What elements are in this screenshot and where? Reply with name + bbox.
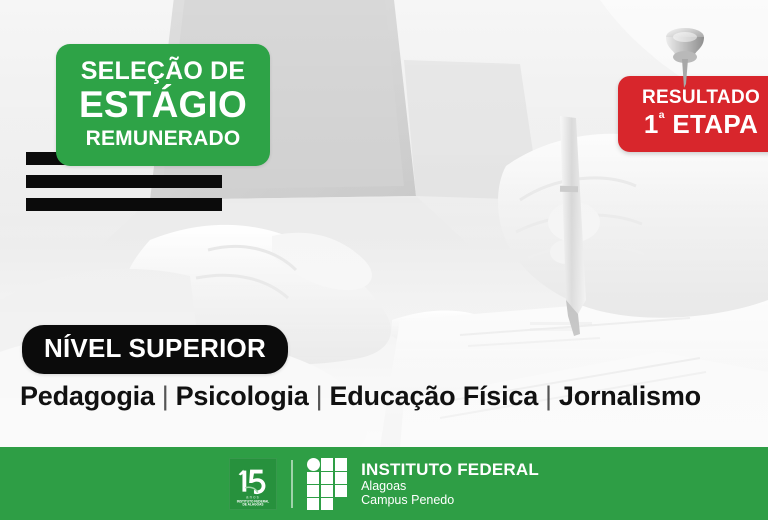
institute-name-block: INSTITUTO FEDERAL Alagoas Campus Penedo <box>361 460 539 507</box>
headline-line-1: SELEÇÃO DE <box>72 58 254 84</box>
course-separator-2: | <box>309 381 330 411</box>
headline-line-3: REMUNERADO <box>72 128 254 150</box>
course-item-4: Jornalismo <box>559 381 701 411</box>
headline-badge: SELEÇÃO DE ESTÁGIO REMUNERADO <box>56 44 270 166</box>
course-item-1: Pedagogia <box>20 381 155 411</box>
result-badge-line-2: 1ª ETAPA <box>628 110 768 139</box>
footer-logos: anos INSTITUTO FEDERAL DE ALAGOAS <box>229 458 539 510</box>
course-separator-1: | <box>155 381 176 411</box>
course-item-3: Educação Física <box>329 381 538 411</box>
headline-line-2: ESTÁGIO <box>72 86 254 124</box>
course-separator-3: | <box>538 381 559 411</box>
level-pill: NÍVEL SUPERIOR <box>22 325 288 374</box>
course-item-2: Psicologia <box>176 381 309 411</box>
result-stage-word: ETAPA <box>665 109 758 139</box>
footer-bar: anos INSTITUTO FEDERAL DE ALAGOAS <box>0 447 768 520</box>
institute-campus: Campus Penedo <box>361 493 539 507</box>
result-badge-wrapper: RESULTADO 1ª ETAPA <box>618 76 768 152</box>
vertical-divider <box>291 460 293 508</box>
instituto-federal-grid-logo <box>307 458 347 510</box>
svg-text:DE ALAGOAS: DE ALAGOAS <box>243 502 264 506</box>
result-stage-number: 1 <box>644 109 659 139</box>
institute-name: INSTITUTO FEDERAL <box>361 460 539 479</box>
courses-list: Pedagogia|Psicologia|Educação Física|Jor… <box>20 381 756 412</box>
pushpin-icon <box>656 24 714 90</box>
result-badge-line-1: RESULTADO <box>628 88 768 109</box>
decorative-bar-3 <box>26 198 222 211</box>
institute-state: Alagoas <box>361 479 539 493</box>
poster: SELEÇÃO DE ESTÁGIO REMUNERADO <box>0 0 768 520</box>
anniversary-15-years-logo: anos INSTITUTO FEDERAL DE ALAGOAS <box>229 458 277 510</box>
decorative-bar-2 <box>26 175 222 188</box>
svg-text:anos: anos <box>246 494 260 499</box>
